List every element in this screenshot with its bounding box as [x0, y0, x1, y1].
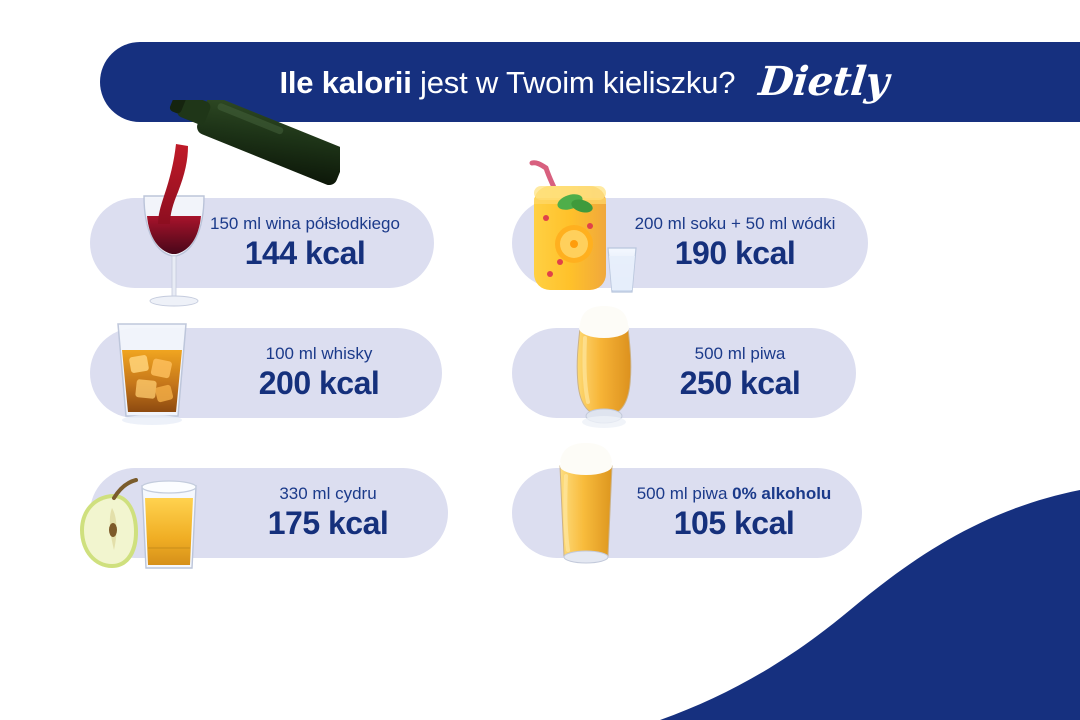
- card-cider-text: 330 ml cydru 175 kcal: [210, 468, 446, 558]
- card-juice-vodka-value: 190 kcal: [675, 237, 796, 271]
- card-beer-value: 250 kcal: [680, 367, 801, 401]
- card-beer-zero-text: 500 ml piwa 0% alkoholu 105 kcal: [608, 468, 860, 558]
- card-whisky-label: 100 ml whisky: [266, 345, 373, 363]
- header-content: Ile kalorii jest w Twoim kieliszku? Diet…: [279, 62, 888, 102]
- card-cider-value: 175 kcal: [268, 507, 389, 541]
- card-beer-zero-label: 500 ml piwa 0% alkoholu: [637, 485, 832, 503]
- card-juice-vodka-text: 200 ml soku + 50 ml wódki 190 kcal: [608, 198, 862, 288]
- card-beer-zero-label-emphasis: 0% alkoholu: [732, 484, 831, 503]
- card-wine-label: 150 ml wina półsłodkiego: [210, 215, 400, 233]
- card-whisky-text: 100 ml whisky 200 kcal: [196, 328, 442, 418]
- card-beer-zero-value: 105 kcal: [674, 507, 795, 541]
- header-bar: Ile kalorii jest w Twoim kieliszku? Diet…: [100, 42, 1080, 122]
- card-cider-label: 330 ml cydru: [279, 485, 376, 503]
- page-title-highlight: Ile kalorii: [279, 65, 411, 100]
- card-wine-value: 144 kcal: [245, 237, 366, 271]
- infographic-canvas: Ile kalorii jest w Twoim kieliszku? Diet…: [0, 0, 1080, 720]
- card-beer-label: 500 ml piwa: [695, 345, 786, 363]
- cards-grid: 150 ml wina półsłodkiego 144 kcal: [0, 150, 1080, 590]
- card-whisky-value: 200 kcal: [259, 367, 380, 401]
- page-title: Ile kalorii jest w Twoim kieliszku?: [279, 67, 735, 98]
- page-title-rest: jest w Twoim kieliszku?: [412, 65, 736, 100]
- brand-logo: Dietly: [757, 62, 890, 102]
- card-juice-vodka-label: 200 ml soku + 50 ml wódki: [635, 215, 836, 233]
- card-beer-text: 500 ml piwa 250 kcal: [620, 328, 860, 418]
- card-beer-zero-label-plain: 500 ml piwa: [637, 484, 732, 503]
- card-wine-text: 150 ml wina półsłodkiego 144 kcal: [180, 198, 430, 288]
